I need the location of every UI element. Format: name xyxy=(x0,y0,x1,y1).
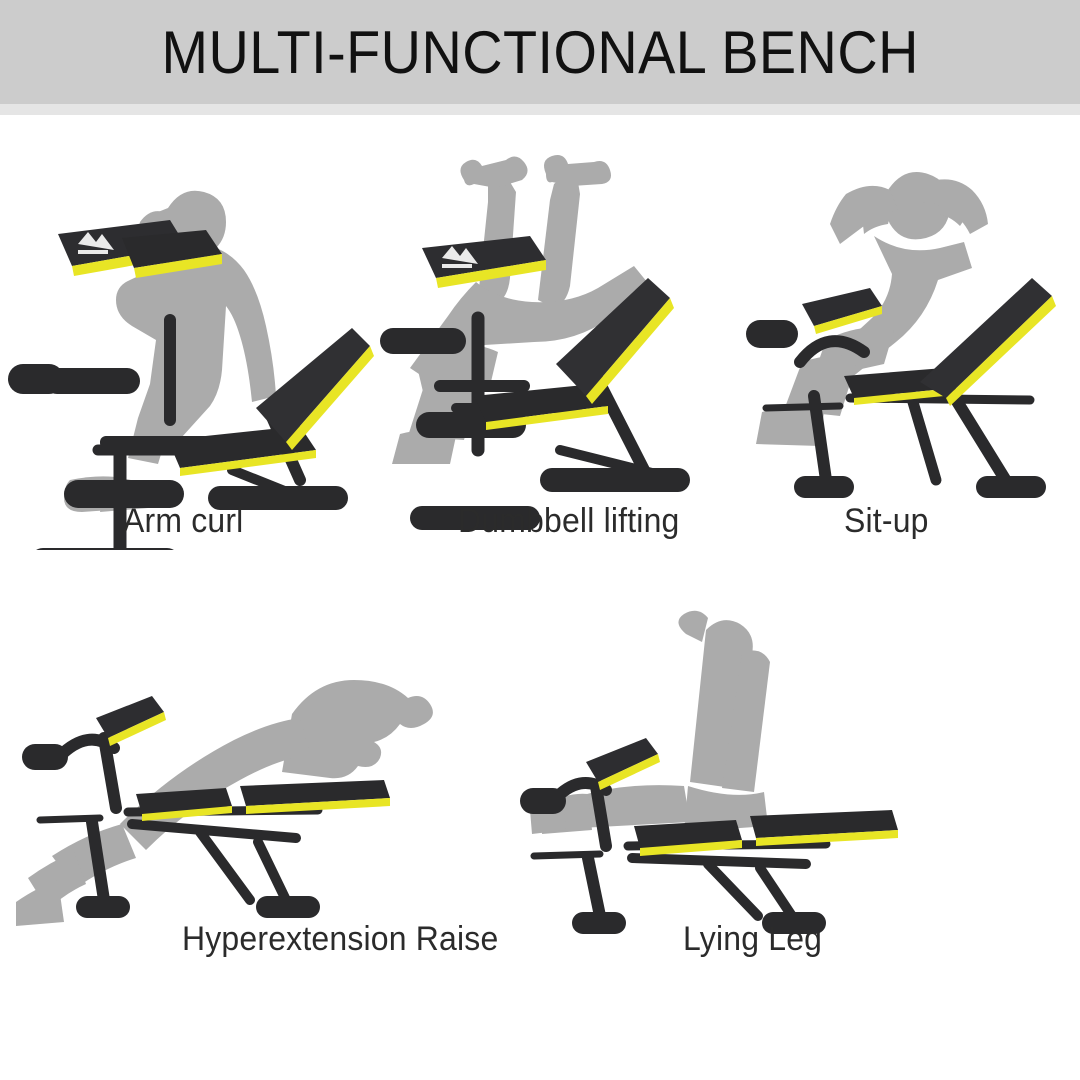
header-banner: MULTI-FUNCTIONAL BENCH xyxy=(0,0,1080,104)
bench-base-feet xyxy=(76,896,320,918)
backrest-pad xyxy=(920,278,1056,406)
bench-pad xyxy=(240,780,390,814)
label-arm-curl: Arm curl xyxy=(123,502,243,541)
arm-curl-svg xyxy=(0,150,380,550)
header-divider-strip xyxy=(0,104,1080,115)
leg-roller-assembly xyxy=(746,320,798,348)
arm-pad xyxy=(422,236,546,288)
seat-pad xyxy=(136,788,232,821)
silhouette-supine-person-legs-raised xyxy=(530,611,770,834)
hyperextension-svg xyxy=(0,610,520,950)
bench-base-feet xyxy=(794,476,1046,498)
bottom-row: Hyperextension Raise xyxy=(0,610,1080,1010)
infographic-page: MULTI-FUNCTIONAL BENCH xyxy=(0,0,1080,1080)
label-hyperextension-raise: Hyperextension Raise xyxy=(182,920,498,959)
panel-hyperextension-raise: Hyperextension Raise xyxy=(0,610,520,1010)
sit-up-svg xyxy=(740,150,1080,550)
leg-roller-assembly xyxy=(520,788,566,814)
seat-pad xyxy=(634,820,742,856)
label-lying-leg: Lying Leg xyxy=(683,920,822,959)
lying-leg-svg xyxy=(520,610,1040,950)
label-sit-up: Sit-up xyxy=(844,502,929,541)
bench-pad xyxy=(750,810,898,846)
panel-lying-leg: Lying Leg xyxy=(520,610,1040,1010)
panel-arm-curl: Arm curl xyxy=(0,150,380,570)
panel-sit-up: Sit-up xyxy=(740,150,1080,570)
label-dumbbell-lifting: Dumbbell lifting xyxy=(458,502,680,541)
panel-dumbbell-lifting: Dumbbell lifting xyxy=(380,150,740,570)
dumbbell-lifting-svg xyxy=(380,150,740,550)
page-title: MULTI-FUNCTIONAL BENCH xyxy=(161,23,918,83)
leg-roller-assembly xyxy=(22,744,68,770)
top-row: Arm curl xyxy=(0,150,1080,570)
